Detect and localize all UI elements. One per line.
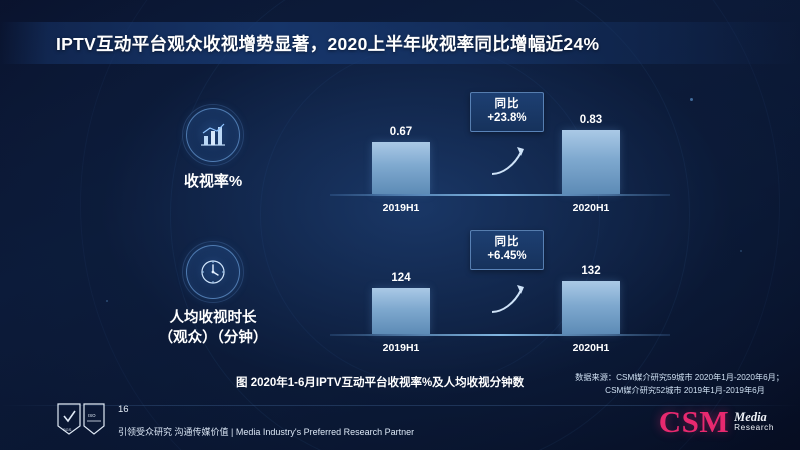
annotation-yoy-viewing-rate: 同比 +23.8% (470, 92, 544, 132)
annotation-yoy-viewing-minutes: 同比 +6.45% (470, 230, 544, 270)
annotation-value: +23.8% (480, 111, 534, 126)
chart-axis-line (330, 194, 670, 196)
chart-viewing-rate: 0.67 0.83 2019H1 2020H1 同比 +23.8% (330, 96, 670, 196)
source-note: 数据来源：CSM媒介研究59城市 2020年1月-2020年6月； CSM媒介研… (575, 372, 784, 397)
up-arrow-icon (488, 144, 530, 178)
source-note-line-2: CSM媒介研究52城市 2019年1月-2019年6月 (575, 385, 784, 398)
svg-text:SGS: SGS (63, 427, 72, 432)
axis-tick-2019h1: 2019H1 (356, 342, 446, 354)
axis-tick-2019h1: 2019H1 (356, 202, 446, 214)
csm-logo: CSM Media Research (659, 407, 774, 436)
up-arrow-icon (488, 282, 530, 316)
row-label-viewing-time: 人均收视时长 （观众）（分钟） (118, 245, 308, 348)
bar-2019h1 (372, 142, 430, 194)
chart-viewing-minutes: 124 132 2019H1 2020H1 同比 +6.45% (330, 236, 670, 336)
svg-text:ISO: ISO (88, 413, 96, 418)
decorative-dot (740, 250, 742, 252)
row-label-text: 人均收视时长 (118, 309, 308, 329)
logo-wordmark: CSM (659, 407, 729, 436)
bar-value-2020h1: 132 (551, 265, 631, 277)
row-label-text-secondary: （观众）（分钟） (118, 329, 308, 349)
row-label-viewing-rate: 收视率% (118, 108, 308, 192)
decorative-dot (690, 98, 693, 101)
row-label-text: 收视率% (118, 172, 308, 192)
axis-tick-2020h1: 2020H1 (546, 342, 636, 354)
title-banner: IPTV互动平台观众收视增势显著，2020上半年收视率同比增幅近24% (0, 22, 800, 64)
slide-canvas: IPTV互动平台观众收视增势显著，2020上半年收视率同比增幅近24% 收视率%… (0, 0, 800, 450)
annotation-value: +6.45% (480, 249, 534, 264)
certification-badge: SGS ISO (54, 402, 106, 436)
footer-slogan: 引领受众研究 沟通传媒价值 | Media Industry's Preferr… (118, 425, 414, 438)
page-title: IPTV互动平台观众收视增势显著，2020上半年收视率同比增幅近24% (56, 31, 599, 56)
axis-tick-2020h1: 2020H1 (546, 202, 636, 214)
bar-2020h1 (562, 130, 620, 194)
page-number: 16 (118, 404, 129, 415)
logo-subtitle-line-2: Research (734, 424, 774, 433)
bar-value-2019h1: 0.67 (361, 126, 441, 138)
chart-axis-line (330, 334, 670, 336)
annotation-label: 同比 (480, 235, 534, 249)
annotation-label: 同比 (480, 97, 534, 111)
source-note-line-1: 数据来源：CSM媒介研究59城市 2020年1月-2020年6月； (575, 372, 784, 385)
decorative-dot (106, 300, 108, 302)
chart-bars-circle-icon (186, 108, 240, 162)
bar-2020h1 (562, 281, 620, 334)
figure-caption: 图 2020年1-6月IPTV互动平台收视率%及人均收视分钟数 (236, 374, 524, 390)
clock-circle-icon (186, 245, 240, 299)
bar-value-2019h1: 124 (361, 272, 441, 284)
bar-value-2020h1: 0.83 (551, 114, 631, 126)
bar-2019h1 (372, 288, 430, 334)
logo-subtitle: Media Research (734, 411, 774, 436)
